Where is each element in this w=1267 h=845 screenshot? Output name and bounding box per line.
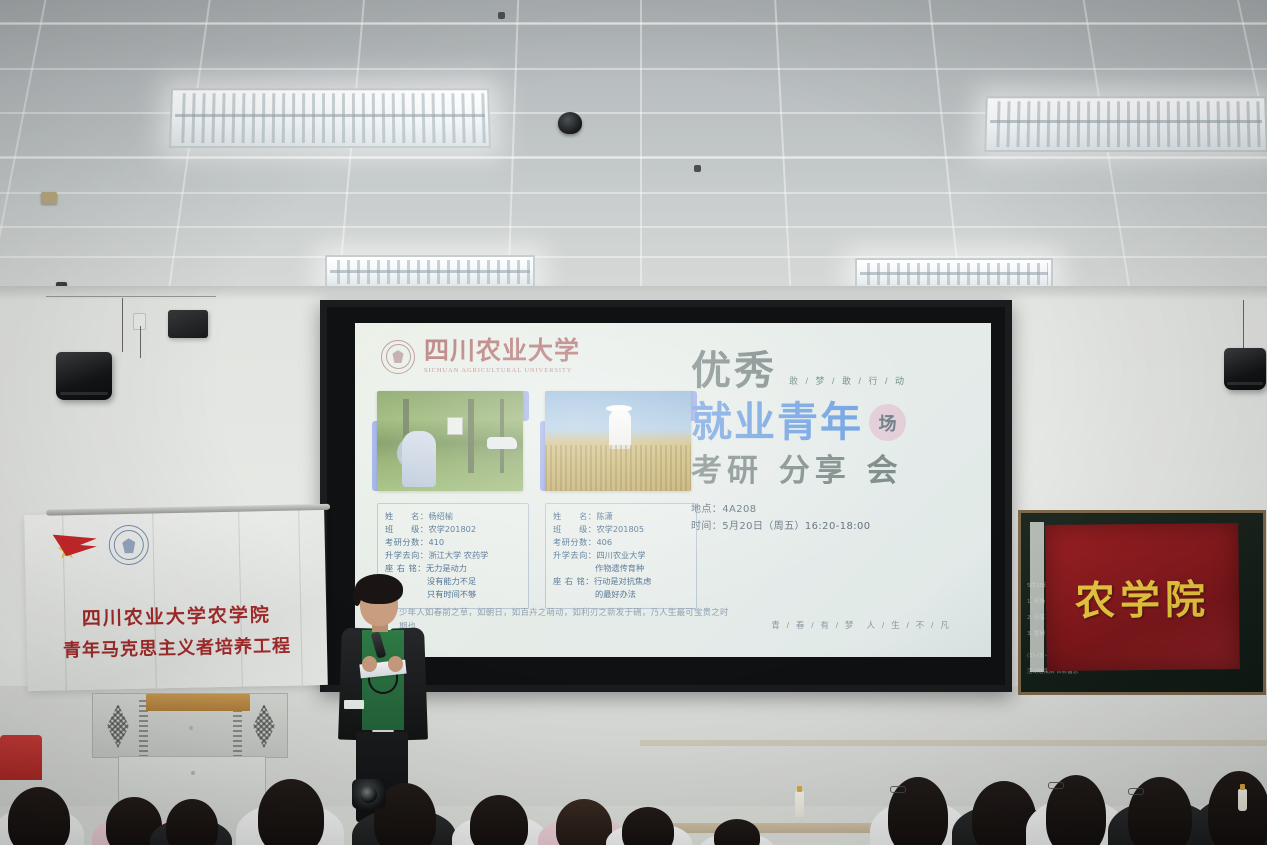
field-value: 浙江大学 农药学 bbox=[428, 550, 488, 560]
field-label: 升学去向： bbox=[553, 550, 596, 560]
glasses-icon bbox=[1048, 782, 1064, 789]
university-name-cn: 四川农业大学 bbox=[424, 339, 580, 364]
profile-card: 姓 名：陈潇 班 级：农学201805 考研分数：406 升学去向：四川农业大学… bbox=[545, 391, 697, 609]
flag-tape bbox=[1030, 522, 1044, 672]
university-name-en: SICHUAN AGRICULTURAL UNIVERSITY bbox=[424, 367, 580, 374]
red-flag-icon bbox=[53, 530, 98, 565]
slide-meta: 地点：4A208 时间：5月20日（周五）16:20-18:00 bbox=[691, 501, 983, 535]
audience-head bbox=[470, 795, 528, 845]
wall-top-shadow bbox=[0, 286, 1267, 300]
ceiling bbox=[0, 0, 1267, 300]
profile-photo-wrap bbox=[377, 391, 529, 497]
profile-info-box: 姓 名：陈潇 班 级：农学201805 考研分数：406 升学去向：四川农业大学… bbox=[545, 503, 697, 609]
photo-signboard bbox=[447, 417, 463, 435]
photo-person bbox=[609, 409, 631, 449]
field-value: 410 bbox=[428, 537, 444, 547]
glasses-icon bbox=[1128, 788, 1144, 795]
audience-head bbox=[622, 807, 674, 845]
slide-footer-tagline: 青 / 春 / 有 / 梦 人 / 生 / 不 / 凡 bbox=[771, 619, 951, 631]
dome-camera-icon bbox=[558, 112, 582, 134]
water-bottle bbox=[795, 791, 804, 817]
presenter-hand bbox=[388, 656, 403, 672]
profile-field: 姓 名：陈潇 bbox=[553, 510, 689, 523]
field-value: 杨绍榆 bbox=[428, 511, 453, 521]
profile-field: 考研分数：410 bbox=[385, 536, 521, 549]
wall-speaker bbox=[1224, 348, 1266, 390]
banner-crease bbox=[152, 512, 157, 688]
audience-head bbox=[258, 779, 324, 845]
presentation-slide: 四川农业大学 SICHUAN AGRICULTURAL UNIVERSITY bbox=[355, 323, 991, 657]
ceiling-light-panel bbox=[169, 88, 491, 148]
meta-location: 地点：4A208 bbox=[691, 501, 983, 518]
field-label: 姓 名： bbox=[553, 511, 596, 521]
speaker-wire bbox=[1243, 300, 1244, 348]
field-value: 行动是对抗焦虑 bbox=[594, 576, 651, 586]
profile-field: 考研分数：406 bbox=[553, 536, 689, 549]
field-label: 座 右 铭： bbox=[553, 576, 594, 586]
slide-quote: 少年人如春前之草，如朝日，如百卉之萌动，如利刃之新发于硎，乃人生最可宝贵之时期也 bbox=[399, 605, 729, 633]
wall-access-point bbox=[168, 310, 208, 338]
ceiling-light-panel bbox=[984, 96, 1267, 152]
profile-field: 班 级：农学201802 bbox=[385, 523, 521, 536]
ceiling-sensor bbox=[41, 192, 57, 204]
audience-head bbox=[556, 799, 612, 845]
profile-field: 升学去向：浙江大学 农药学 bbox=[385, 549, 521, 562]
photo-wheat bbox=[545, 445, 691, 491]
audience-head bbox=[8, 787, 70, 845]
title-line-3: 考研 分享 会 bbox=[691, 456, 983, 487]
camera-rig bbox=[352, 779, 386, 809]
field-value: 四川农业大学 bbox=[596, 550, 645, 560]
field-label: 考研分数： bbox=[553, 537, 596, 547]
device-wire bbox=[140, 326, 141, 358]
title-line-2: 就业青年 bbox=[691, 401, 863, 444]
title-badge: 场 bbox=[869, 404, 906, 441]
field-label: 班 级： bbox=[553, 524, 596, 534]
field-label: 考研分数： bbox=[385, 537, 428, 547]
title-badge-text: 场 bbox=[879, 410, 897, 436]
profile-motto-line: 的最好办法 bbox=[553, 588, 689, 601]
department-flag-text: 农学院 bbox=[1075, 567, 1211, 626]
flag-swoosh-icon bbox=[53, 534, 97, 557]
university-seal-icon bbox=[108, 525, 149, 566]
meta-time: 时间：5月20日（周五）16:20-18:00 bbox=[691, 518, 983, 535]
wall-speaker bbox=[56, 352, 112, 400]
title-tagline: 敢 / 梦 / 敢 / 行 / 动 bbox=[789, 374, 907, 387]
profile-photo bbox=[545, 391, 691, 491]
ceiling-fixture-dot bbox=[694, 165, 701, 172]
banner-crease bbox=[238, 511, 243, 687]
banner-line-1: 四川农业大学农学院 bbox=[26, 599, 326, 632]
profile-field: 座 右 铭：行动是对抗焦虑 bbox=[553, 575, 689, 588]
profile-field-cont: 作物遗传育种 bbox=[553, 562, 689, 575]
glasses-icon bbox=[890, 786, 906, 793]
university-branding: 四川农业大学 SICHUAN AGRICULTURAL UNIVERSITY bbox=[381, 339, 580, 374]
ceiling-light-panel bbox=[325, 255, 535, 289]
university-seal-icon bbox=[381, 340, 415, 374]
classroom-scene: 四川农业大学 SICHUAN AGRICULTURAL UNIVERSITY bbox=[0, 0, 1267, 845]
profile-field: 姓 名：杨绍榆 bbox=[385, 510, 521, 523]
speaker-wire bbox=[122, 298, 123, 352]
ceiling-wire bbox=[46, 296, 216, 297]
field-value: 农学201802 bbox=[428, 524, 476, 534]
photo-car bbox=[487, 437, 517, 449]
field-value: 农学201805 bbox=[596, 524, 644, 534]
banner-line-2: 青年马克思主义者培养工程 bbox=[27, 631, 327, 663]
presenter-hand bbox=[362, 656, 377, 672]
slide-title-block: 优秀 敢 / 梦 / 敢 / 行 / 动 就业青年 场 考研 分享 会 地点：4… bbox=[691, 351, 983, 535]
title-row-1: 优秀 敢 / 梦 / 敢 / 行 / 动 bbox=[691, 351, 983, 391]
profile-photo-wrap bbox=[545, 391, 697, 497]
podium-screw bbox=[189, 726, 193, 730]
field-label: 班 级： bbox=[385, 524, 428, 534]
profile-photo bbox=[377, 391, 523, 491]
podium-worktop bbox=[146, 694, 250, 711]
department-flag: 农学院 bbox=[1045, 523, 1240, 671]
banner-crease bbox=[298, 509, 303, 685]
water-bottle bbox=[1238, 789, 1247, 811]
audience-head bbox=[166, 799, 218, 845]
profile-field: 班 级：农学201805 bbox=[553, 523, 689, 536]
ceiling-fixture-dot bbox=[498, 12, 505, 19]
field-label: 升学去向： bbox=[385, 550, 428, 560]
presenter-hair bbox=[355, 574, 403, 604]
field-value: 406 bbox=[596, 537, 612, 547]
title-line-1: 优秀 bbox=[691, 351, 777, 391]
presenter-badge bbox=[344, 700, 364, 709]
wall-banner: 四川农业大学农学院 青年马克思主义者培养工程 bbox=[24, 509, 328, 691]
field-label: 姓 名： bbox=[385, 511, 428, 521]
profile-field: 升学去向：四川农业大学 bbox=[553, 549, 689, 562]
field-value: 陈潇 bbox=[596, 511, 612, 521]
audience-row bbox=[0, 735, 1267, 845]
title-row-2: 就业青年 场 bbox=[691, 401, 983, 444]
photo-person bbox=[402, 431, 436, 487]
